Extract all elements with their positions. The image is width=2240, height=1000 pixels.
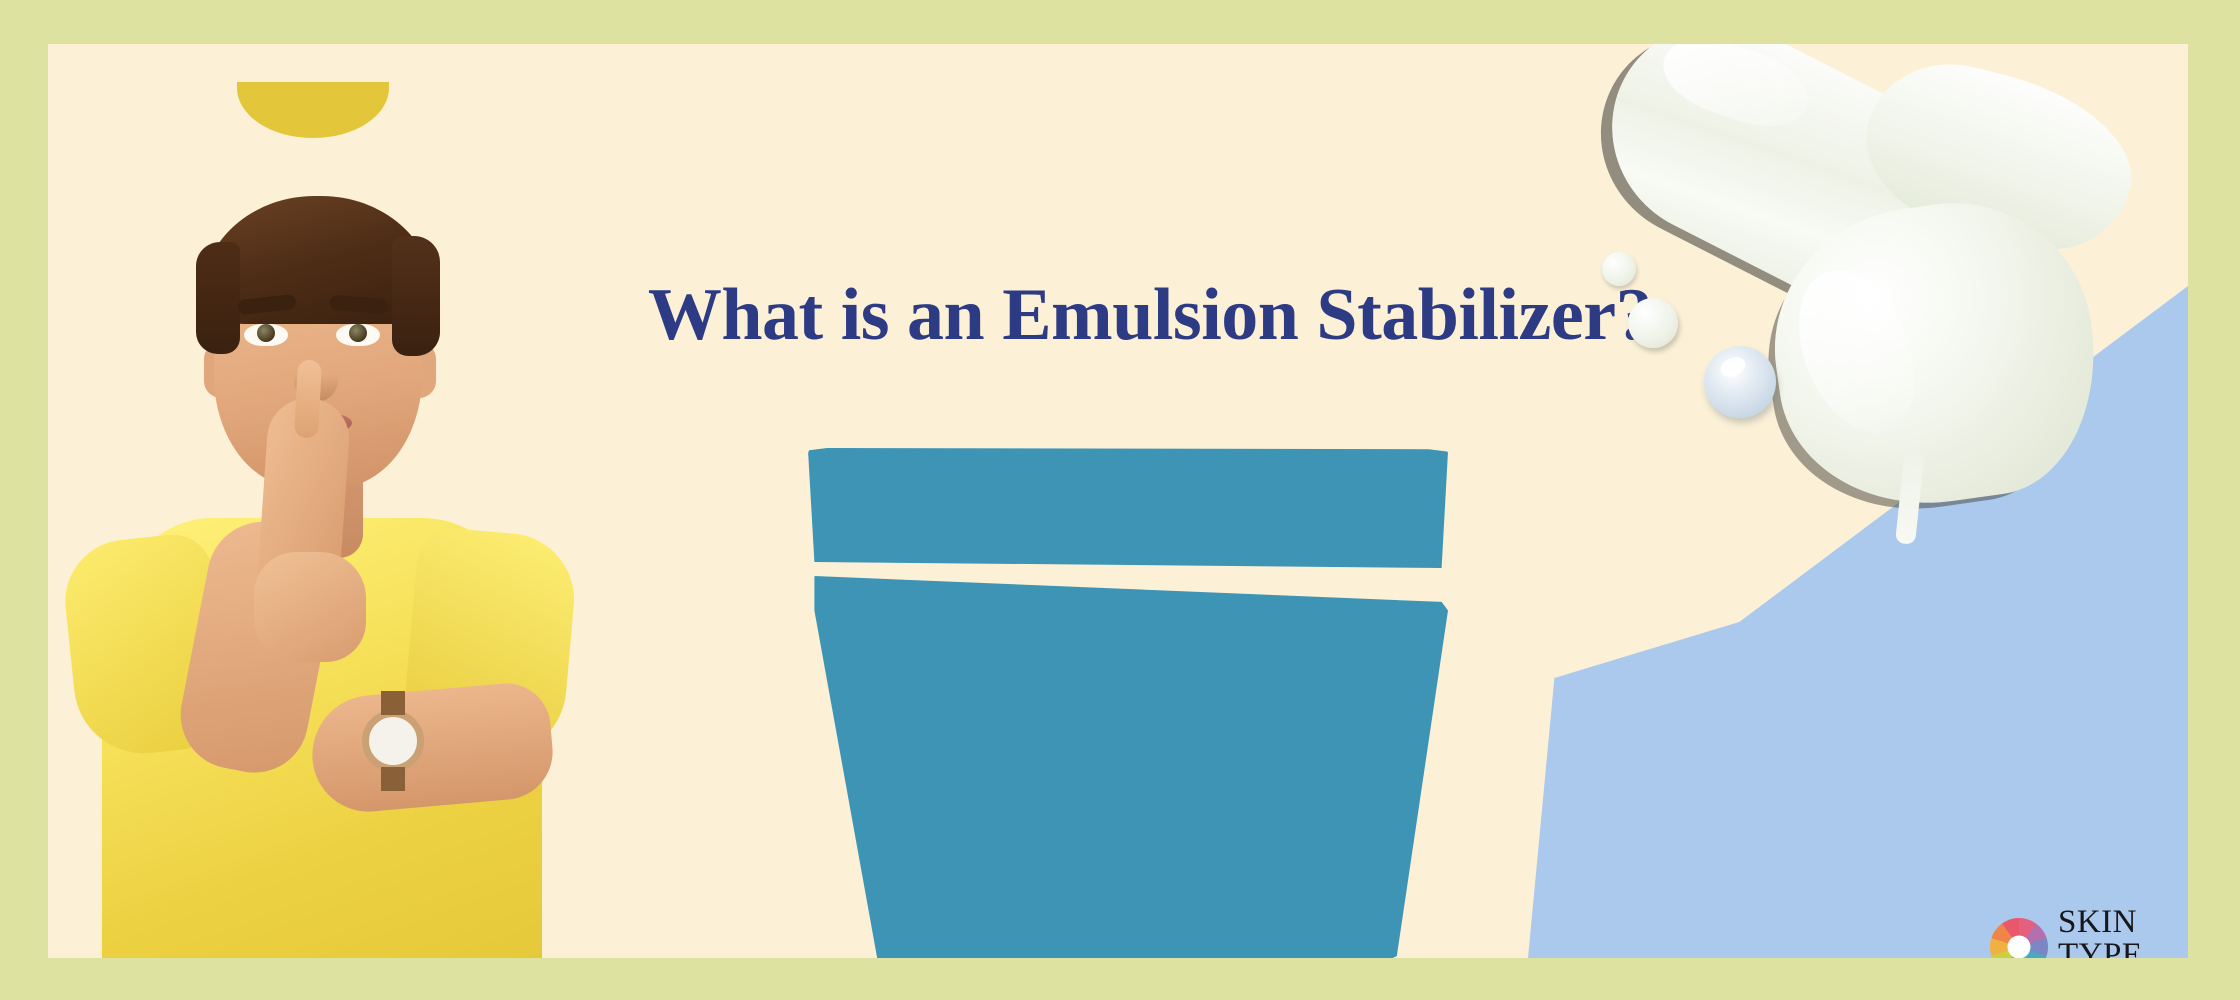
person-hand xyxy=(254,552,366,662)
gel-droplet-large xyxy=(1704,346,1776,418)
cream-smear-group xyxy=(1578,44,2188,588)
banner-root: What is an Emulsion Stabilizer? Skin Typ… xyxy=(0,0,2240,1000)
brand-logo[interactable]: Skin Type Solutions xyxy=(1990,906,2188,958)
person-eye-right xyxy=(336,324,380,346)
person-index-finger xyxy=(294,359,322,438)
cream-jar-lid xyxy=(808,448,1448,568)
person-hair xyxy=(202,196,434,324)
color-wheel-icon xyxy=(1990,918,2048,958)
cream-droplet-medium xyxy=(1628,298,1678,348)
cream-jar-graphic xyxy=(808,448,1448,958)
cream-droplet-small xyxy=(1602,252,1636,286)
person-eye-left xyxy=(244,324,288,346)
banner-panel: What is an Emulsion Stabilizer? Skin Typ… xyxy=(48,44,2188,958)
cream-jar-body xyxy=(808,576,1448,958)
person-photo xyxy=(62,78,582,958)
wristwatch-icon xyxy=(362,710,424,772)
brand-logo-text: Skin Type Solutions xyxy=(2058,906,2188,958)
brand-name: Skin Type xyxy=(2058,906,2188,958)
person-collar xyxy=(237,82,389,138)
page-title: What is an Emulsion Stabilizer? xyxy=(575,278,1725,352)
